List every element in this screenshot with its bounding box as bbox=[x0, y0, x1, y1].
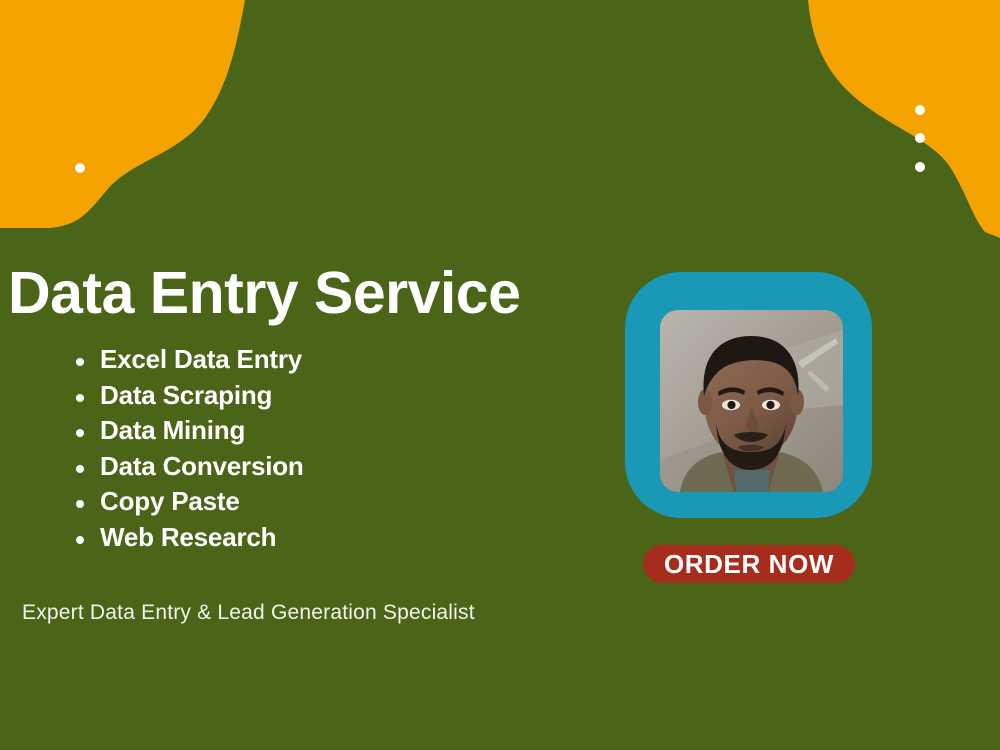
page-title: Data Entry Service bbox=[8, 262, 520, 325]
decorative-dot-right-bottom bbox=[915, 162, 925, 172]
decorative-dot-right-middle bbox=[915, 133, 925, 143]
orange-blob-top-right bbox=[808, 0, 1000, 238]
list-item: Copy Paste bbox=[100, 484, 304, 520]
list-item: Excel Data Entry bbox=[100, 342, 304, 378]
decorative-dot-right-top bbox=[915, 105, 925, 115]
profile-photo-frame bbox=[625, 272, 872, 518]
gig-thumbnail-poster: Data Entry Service Excel Data Entry Data… bbox=[0, 0, 1000, 750]
tagline: Expert Data Entry & Lead Generation Spec… bbox=[22, 601, 475, 625]
order-now-button[interactable]: ORDER NOW bbox=[643, 545, 855, 583]
list-item: Data Scraping bbox=[100, 378, 304, 414]
list-item: Data Conversion bbox=[100, 449, 304, 485]
list-item: Web Research bbox=[100, 520, 304, 556]
service-list: Excel Data Entry Data Scraping Data Mini… bbox=[58, 342, 304, 556]
list-item: Data Mining bbox=[100, 413, 304, 449]
content-column: Data Entry Service Excel Data Entry Data… bbox=[0, 0, 600, 750]
avatar bbox=[660, 310, 843, 492]
portrait-photo-illustration bbox=[660, 310, 843, 492]
